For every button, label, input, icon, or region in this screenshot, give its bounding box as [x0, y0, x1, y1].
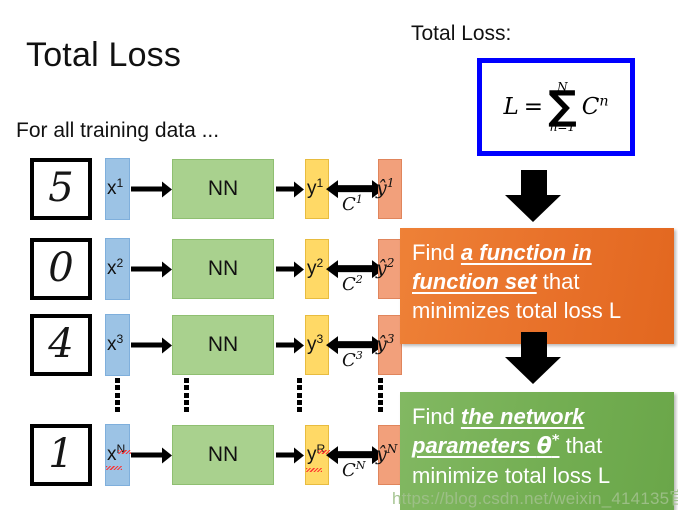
summation-lower-limit: n=1: [550, 121, 575, 133]
green-callout-lead: Find: [412, 404, 461, 429]
orange-callout-box: Find a function in function set that min…: [400, 228, 674, 344]
output-label-1: y1: [307, 179, 323, 198]
digit-image-n: 1: [30, 424, 92, 486]
target-label-n: ŷN: [376, 445, 397, 464]
compare-arrow-n: [337, 451, 373, 458]
cost-label-2: C2: [342, 276, 363, 294]
nn-label: NN: [208, 257, 238, 281]
target-label-2: ŷ2: [376, 259, 394, 278]
arrow-input-to-nn-1: [131, 187, 163, 192]
neural-net-box-2: NN: [172, 239, 274, 299]
compare-arrow-1: [337, 185, 373, 192]
digit-image-3: 4: [30, 314, 92, 376]
arrow-nn-to-output-1: [276, 187, 295, 192]
neural-net-box-1: NN: [172, 159, 274, 219]
arrow-nn-to-output-2: [276, 267, 295, 272]
arrow-input-to-nn-n: [131, 453, 163, 458]
digit-image-1: 5: [30, 158, 92, 220]
input-label-1: x1: [107, 179, 123, 198]
summation-operator: N ∑ n=1: [548, 81, 577, 133]
cost-label-3: C3: [342, 352, 363, 370]
formula-lhs: L: [503, 96, 518, 119]
target-label-1: ŷ1: [376, 179, 394, 198]
output-label-3: y3: [307, 335, 323, 354]
ellipsis-target-column: [378, 378, 383, 412]
digit-image-2: 0: [30, 238, 92, 300]
arrow-nn-to-output-3: [276, 343, 295, 348]
arrow-input-to-nn-2: [131, 267, 163, 272]
nn-label: NN: [208, 333, 238, 357]
pipeline-row-3: 4 x3 NN y3 ŷ3 C3: [30, 314, 410, 376]
sigma-icon: ∑: [548, 91, 577, 122]
neural-net-box-3: NN: [172, 315, 274, 375]
ellipsis-input-column: [115, 378, 120, 412]
output-label-2: y2: [307, 259, 323, 278]
total-loss-formula-box: L = N ∑ n=1 Cn: [477, 58, 635, 156]
formula-equals: =: [524, 96, 543, 119]
page-title: Total Loss: [26, 36, 181, 75]
target-label-3: ŷ3: [376, 335, 394, 354]
spellcheck-squiggle-input: [106, 466, 122, 470]
formula-term: Cn: [582, 96, 609, 119]
down-arrow-icon-1: [505, 170, 561, 224]
compare-arrow-2: [337, 265, 373, 272]
down-arrow-icon-2: [505, 332, 561, 386]
total-loss-caption: Total Loss:: [411, 22, 511, 46]
digit-glyph: 4: [34, 324, 88, 364]
pipeline-row-1: 5 x1 NN y1 ŷ1 C1: [30, 158, 410, 220]
input-label-2: x2: [107, 259, 123, 278]
compare-arrow-3: [337, 341, 373, 348]
neural-net-box-n: NN: [172, 425, 274, 485]
arrow-input-to-nn-3: [131, 343, 163, 348]
nn-label: NN: [208, 177, 238, 201]
pipeline-row-n: 1 xN NN yR ŷN CN: [30, 424, 410, 486]
input-label-n: xN: [107, 445, 125, 464]
arrow-nn-to-output-n: [276, 453, 295, 458]
ellipsis-output-column: [297, 378, 302, 412]
total-loss-formula: L = N ∑ n=1 Cn: [503, 81, 608, 133]
digit-glyph: 0: [34, 248, 88, 288]
input-label-3: x3: [107, 335, 123, 354]
output-label-n: yR: [307, 445, 325, 464]
orange-callout-lead: Find: [412, 240, 461, 265]
spellcheck-squiggle-input-sup: [118, 450, 131, 454]
pipeline-row-2: 0 x2 NN y2 ŷ2 C2: [30, 238, 410, 300]
spellcheck-squiggle-output: [306, 468, 322, 472]
nn-label: NN: [208, 443, 238, 467]
subtitle-text: For all training data ...: [16, 119, 219, 143]
digit-glyph: 5: [34, 168, 88, 208]
watermark-text: https://blog.csdn.net/weixin_414135官: [392, 484, 678, 509]
cost-label-n: CN: [342, 462, 366, 480]
digit-glyph: 1: [34, 434, 88, 474]
ellipsis-nn-column: [184, 378, 189, 412]
theta-symbol: θ*: [537, 434, 560, 459]
cost-label-1: C1: [342, 196, 363, 214]
